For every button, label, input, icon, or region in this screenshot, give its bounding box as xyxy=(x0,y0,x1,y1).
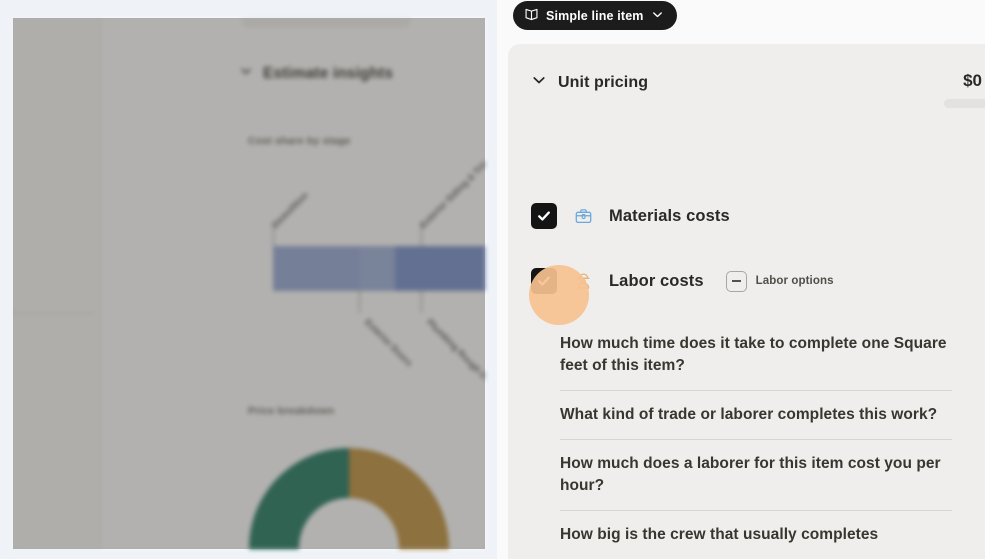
labor-options-label: Labor options xyxy=(756,275,834,287)
background-content: Estimate insights Cost share by stage De… xyxy=(101,18,485,549)
line-item-panel-inner: Simple line item Unit pricing $ xyxy=(497,0,985,559)
unit-pricing-card: Unit pricing $0 xyxy=(508,44,985,559)
unit-pricing-title: Unit pricing xyxy=(558,74,648,92)
labor-costs-label: Labor costs xyxy=(609,272,704,291)
background-topbar-stub xyxy=(241,18,411,28)
labor-costs-row[interactable]: Labor costs Labor options xyxy=(531,268,834,294)
line-item-type-badge[interactable]: Simple line item xyxy=(513,1,677,30)
labor-options-button[interactable]: Labor options xyxy=(726,271,834,292)
unit-pricing-header[interactable]: Unit pricing xyxy=(531,72,648,93)
axis-tick xyxy=(359,291,360,313)
minus-square-icon xyxy=(726,271,747,292)
bar-segment xyxy=(359,246,395,291)
stage-label: Demolition xyxy=(270,190,310,230)
line-item-panel: Simple line item Unit pricing $ xyxy=(497,0,985,559)
line-item-type-label: Simple line item xyxy=(546,9,644,23)
labor-costs-checkbox[interactable] xyxy=(531,268,557,294)
labor-questions-list: How much time does it take to complete o… xyxy=(560,320,985,559)
stage-label: Exterior Doors xyxy=(363,317,414,368)
worker-hardhat-icon xyxy=(573,271,593,291)
chevron-down-icon xyxy=(651,8,664,24)
materials-costs-label: Materials costs xyxy=(609,207,730,226)
stage-label: Exterior Siding & Trim xyxy=(418,156,485,230)
estimate-insights-header[interactable]: Estimate insights xyxy=(239,64,393,83)
cost-share-chart-caption: Cost share by stage xyxy=(248,135,351,147)
materials-costs-row[interactable]: Materials costs xyxy=(531,203,730,229)
box-outline-icon xyxy=(524,7,539,25)
materials-costs-checkbox[interactable] xyxy=(531,203,557,229)
stage-label: Plumbing Rough In xyxy=(425,317,485,382)
background-sidebar: ernal) xyxy=(13,18,101,549)
chevron-down-icon xyxy=(239,64,253,83)
app-root: ernal) Estimate insights Cost share by s… xyxy=(0,0,985,559)
bar-segment xyxy=(395,246,485,291)
bar-segment xyxy=(273,246,359,291)
sidebar-divider xyxy=(13,313,93,314)
unit-pricing-amount: $0 xyxy=(963,71,982,91)
price-placeholder-bar xyxy=(944,99,985,108)
axis-tick xyxy=(421,291,422,313)
chevron-down-icon xyxy=(531,72,547,93)
cost-share-stacked-bar xyxy=(273,246,485,291)
background-app: ernal) Estimate insights Cost share by s… xyxy=(13,18,485,549)
price-breakdown-caption: Price breakdown xyxy=(248,405,334,417)
toolbox-icon xyxy=(573,206,593,226)
estimate-insights-title: Estimate insights xyxy=(263,65,393,83)
price-breakdown-donut xyxy=(249,448,449,549)
question-item[interactable]: How much time does it take to complete o… xyxy=(560,320,952,390)
question-item[interactable]: How big is the crew that usually complet… xyxy=(560,510,952,559)
question-item[interactable]: What kind of trade or laborer completes … xyxy=(560,390,952,439)
question-item[interactable]: How much does a laborer for this item co… xyxy=(560,439,952,510)
